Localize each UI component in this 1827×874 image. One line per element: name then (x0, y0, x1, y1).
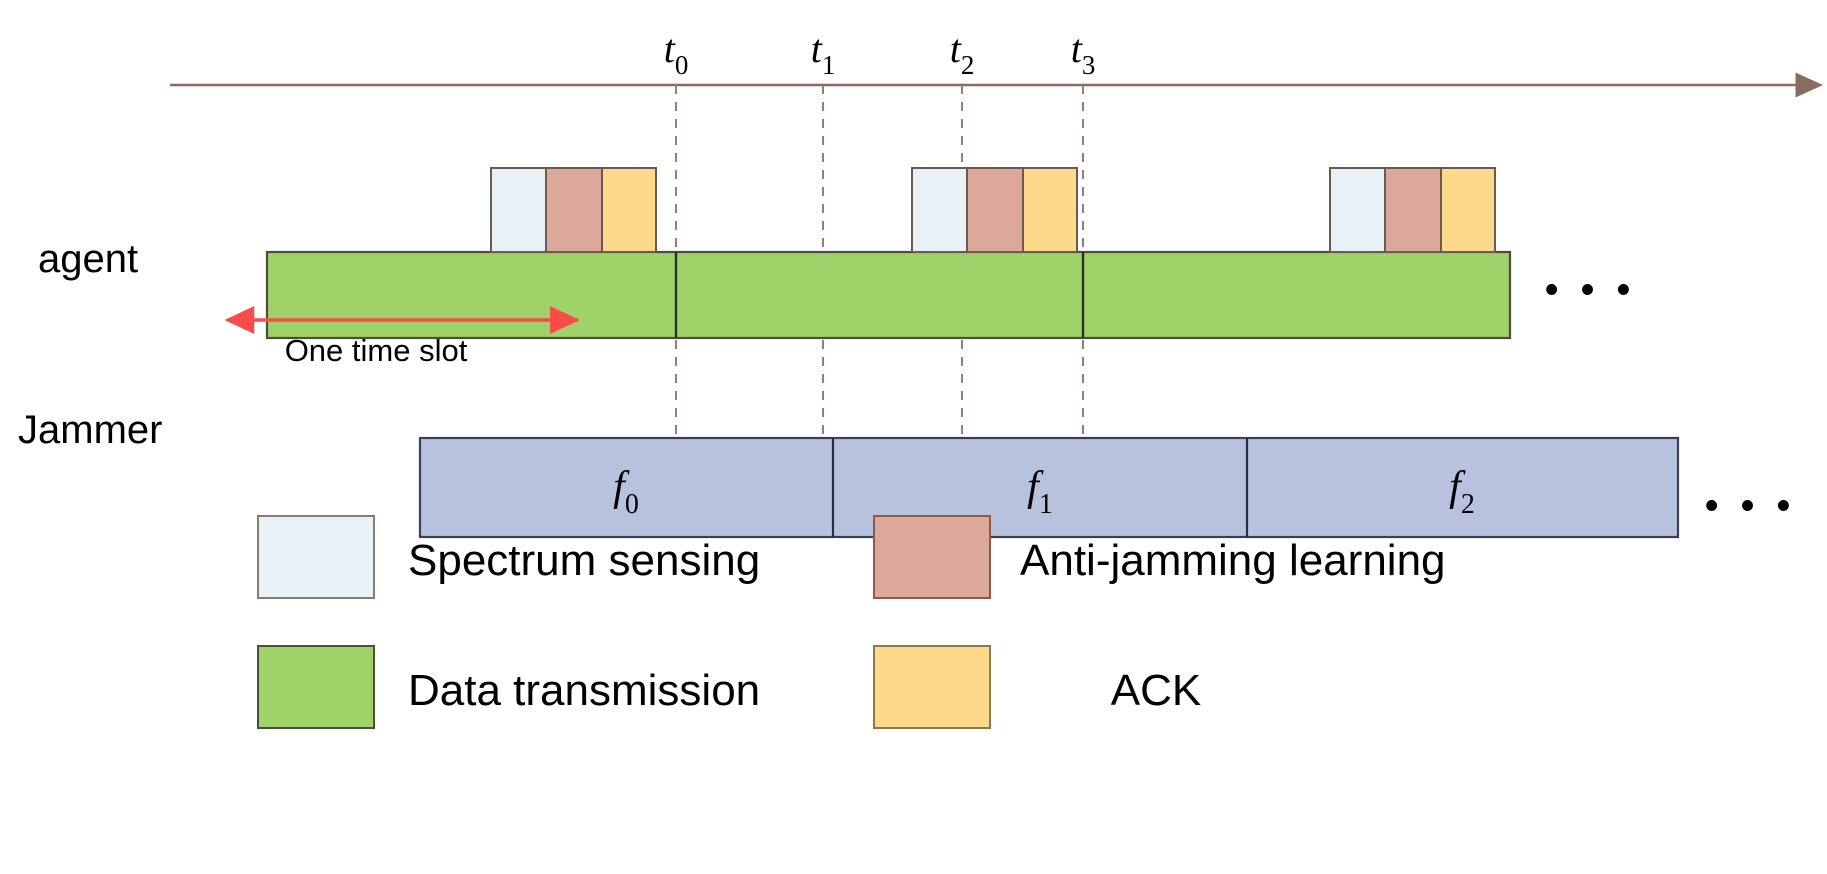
phase-block-anti-jamming-learning-slot-1 (546, 168, 602, 252)
legend-swatch-ack (874, 646, 990, 728)
agent-ellipsis: • • • (1545, 269, 1636, 311)
diagram-canvas: t0t1t2t3 agent • • • One time slot Jamme… (0, 0, 1827, 874)
phase-block-ack-slot-2 (1023, 168, 1077, 252)
timeslot-structure-diagram: t0t1t2t3 agent • • • One time slot Jamme… (0, 0, 1827, 874)
phase-block-spectrum-sensing-slot-2 (912, 168, 967, 252)
phase-block-anti-jamming-learning-slot-3 (1385, 168, 1441, 252)
legend-label-data-transmission: Data transmission (408, 666, 760, 715)
legend: Spectrum sensingAnti-jamming learningDat… (258, 516, 1446, 728)
time-tick-label-t1: t1 (811, 26, 836, 80)
legend-label-spectrum-sensing: Spectrum sensing (408, 536, 760, 585)
agent-phase-blocks (491, 168, 1495, 252)
legend-item-data-transmission: Data transmission (258, 646, 760, 728)
legend-swatch-anti-jamming-learning (874, 516, 990, 598)
time-tick-labels: t0t1t2t3 (664, 26, 1096, 80)
time-tick-label-t2: t2 (950, 26, 975, 80)
agent-data-transmission-bar (267, 252, 1510, 338)
jammer-band-bar (420, 438, 1678, 537)
phase-block-anti-jamming-learning-slot-2 (967, 168, 1023, 252)
phase-block-spectrum-sensing-slot-1 (491, 168, 546, 252)
legend-label-ack: ACK (1111, 666, 1201, 715)
phase-block-spectrum-sensing-slot-3 (1330, 168, 1385, 252)
phase-block-ack-slot-3 (1441, 168, 1495, 252)
jammer-ellipsis: • • • (1705, 485, 1796, 527)
jammer-row-label: Jammer (18, 408, 162, 452)
phase-block-ack-slot-1 (602, 168, 656, 252)
legend-swatch-spectrum-sensing (258, 516, 374, 598)
legend-label-anti-jamming-learning: Anti-jamming learning (1020, 536, 1446, 585)
time-tick-label-t3: t3 (1071, 26, 1096, 80)
one-time-slot-label: One time slot (285, 333, 468, 368)
agent-row-label: agent (38, 237, 138, 281)
time-tick-label-t0: t0 (664, 26, 689, 80)
legend-swatch-data-transmission (258, 646, 374, 728)
legend-item-ack: ACK (874, 646, 1201, 728)
